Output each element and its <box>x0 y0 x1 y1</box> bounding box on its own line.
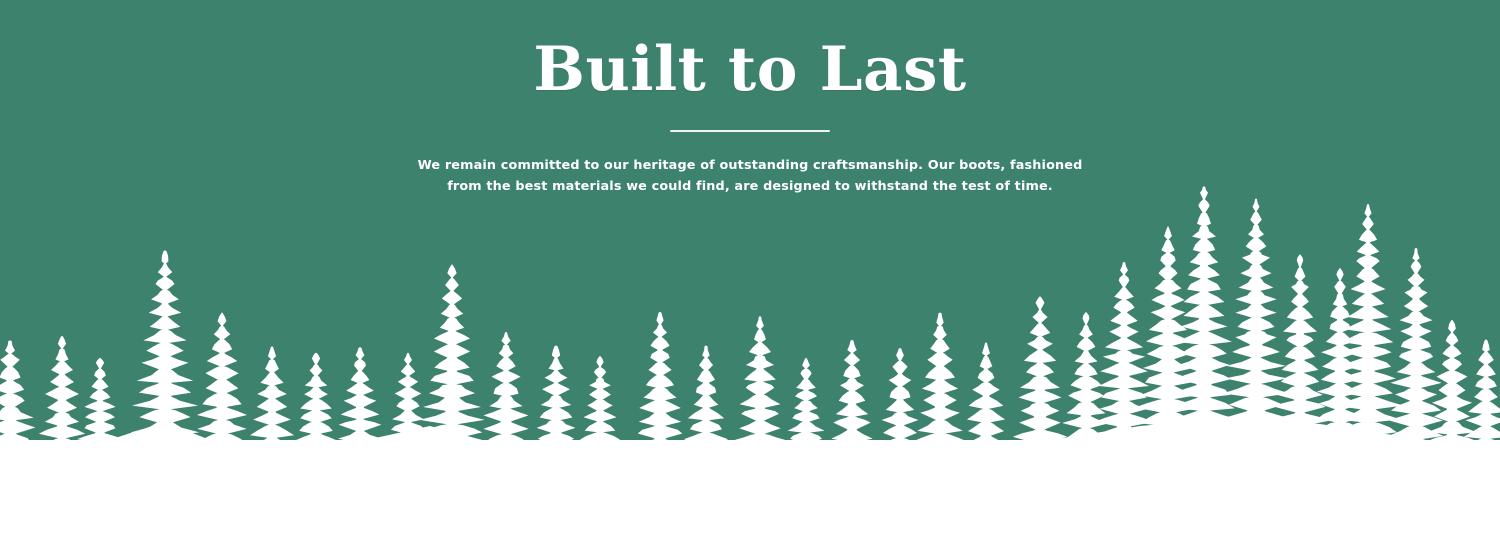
pine-tree <box>293 336 339 460</box>
pine-tree <box>1388 225 1445 454</box>
title-divider <box>670 130 830 132</box>
pine-tree <box>0 321 37 462</box>
pine-tree <box>963 323 1009 464</box>
pine-tree <box>1062 292 1110 456</box>
pine-tree <box>877 330 924 466</box>
pine-tree <box>528 328 583 460</box>
hero-banner: Built to Last We remain committed to our… <box>0 0 1500 548</box>
pine-tree <box>35 317 89 466</box>
pine-tree <box>787 343 826 458</box>
pine-tree <box>1222 172 1289 452</box>
pine-tree <box>483 313 528 462</box>
divider-wrapper <box>0 130 1500 132</box>
pine-tree <box>1270 231 1330 454</box>
pine-forest-illustration <box>0 148 1500 548</box>
pine-tree <box>681 328 732 460</box>
pine-tree <box>245 328 300 467</box>
pine-tree <box>908 292 972 462</box>
pine-tree <box>825 321 878 470</box>
pine-tree <box>577 341 622 458</box>
forest-tree-group <box>0 160 1500 548</box>
page-title: Built to Last <box>0 0 1500 102</box>
pine-tree <box>1008 275 1072 458</box>
pine-tree <box>734 296 787 462</box>
pine-tree <box>1463 321 1500 466</box>
pine-tree <box>634 292 686 466</box>
